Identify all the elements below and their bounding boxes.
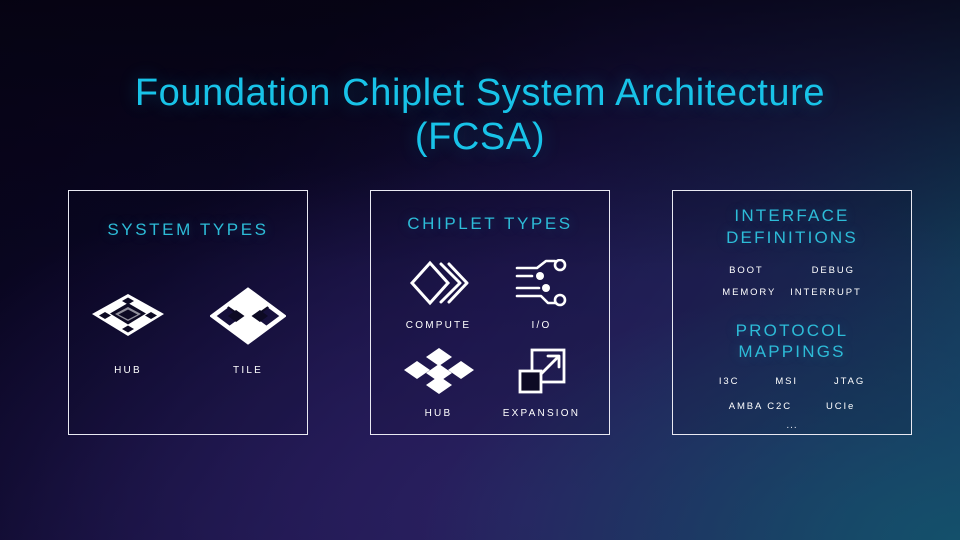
protocol-more-indicator: ...	[673, 420, 911, 431]
protocol-i3c[interactable]: I3C	[719, 376, 739, 387]
protocol-mappings-heading-line-1: PROTOCOL	[673, 320, 911, 342]
system-type-tile-label: TILE	[202, 365, 294, 376]
protocol-row-1: I3C MSI JTAG	[673, 376, 911, 387]
interface-definitions-heading-line-2: DEFINITIONS	[673, 227, 911, 249]
protocol-mappings-heading-line-2: MAPPINGS	[673, 341, 911, 363]
interface-interrupt[interactable]: INTERRUPT	[790, 287, 861, 298]
system-type-tile[interactable]: TILE	[202, 285, 294, 376]
chiplet-type-io[interactable]: I/O	[490, 257, 593, 331]
protocol-ellipsis: ...	[786, 420, 797, 431]
protocol-jtag[interactable]: JTAG	[834, 376, 865, 387]
system-type-hub[interactable]: HUB	[82, 285, 174, 376]
protocol-ucie[interactable]: UCIe	[826, 401, 855, 412]
chiplet-type-expansion[interactable]: EXPANSION	[490, 345, 593, 419]
system-type-hub-label: HUB	[82, 365, 174, 376]
slide-canvas: Foundation Chiplet System Architecture (…	[0, 0, 960, 540]
protocol-row-2: AMBA C2C UCIe	[673, 401, 911, 412]
interface-row-1: BOOT DEBUG	[673, 265, 911, 276]
title-line-1: Foundation Chiplet System Architecture	[135, 72, 825, 114]
title-line-2: (FCSA)	[0, 116, 960, 160]
panel-interface-definitions: INTERFACE DEFINITIONS BOOT DEBUG MEMORY …	[672, 190, 912, 435]
interface-boot[interactable]: BOOT	[729, 265, 764, 276]
chiplet-type-hub[interactable]: HUB	[387, 345, 490, 419]
panel-chiplet-types: CHIPLET TYPES COMPUTE	[370, 190, 610, 435]
expand-squares-icon	[490, 345, 593, 397]
layered-diamond-icon	[387, 257, 490, 309]
chiplet-type-expansion-label: EXPANSION	[490, 408, 593, 419]
protocol-msi[interactable]: MSI	[775, 376, 798, 387]
interface-memory[interactable]: MEMORY	[722, 287, 776, 298]
interface-definitions-heading: INTERFACE DEFINITIONS	[673, 205, 911, 249]
diamond-tile-icon	[202, 285, 294, 347]
chiplet-type-compute[interactable]: COMPUTE	[387, 257, 490, 331]
chiplet-type-hub-label: HUB	[387, 408, 490, 419]
interface-debug[interactable]: DEBUG	[812, 265, 855, 276]
panel-system-types: SYSTEM TYPES HUB	[68, 190, 308, 435]
circuit-trace-icon	[490, 257, 593, 309]
diamond-cluster-icon	[387, 345, 490, 397]
isometric-chip-icon	[82, 285, 174, 347]
panel-system-types-heading: SYSTEM TYPES	[69, 219, 307, 241]
chiplet-type-io-label: I/O	[490, 320, 593, 331]
interface-definitions-heading-line-1: INTERFACE	[673, 205, 911, 227]
chiplet-types-grid: COMPUTE	[371, 257, 609, 419]
page-title: Foundation Chiplet System Architecture (…	[0, 72, 960, 159]
protocol-mappings-heading: PROTOCOL MAPPINGS	[673, 320, 911, 364]
system-types-grid: HUB TIL	[69, 285, 307, 376]
chiplet-type-compute-label: COMPUTE	[387, 320, 490, 331]
panel-chiplet-types-heading: CHIPLET TYPES	[371, 213, 609, 235]
protocol-amba-c2c[interactable]: AMBA C2C	[729, 401, 792, 412]
interface-row-2: MEMORY INTERRUPT	[673, 287, 911, 298]
